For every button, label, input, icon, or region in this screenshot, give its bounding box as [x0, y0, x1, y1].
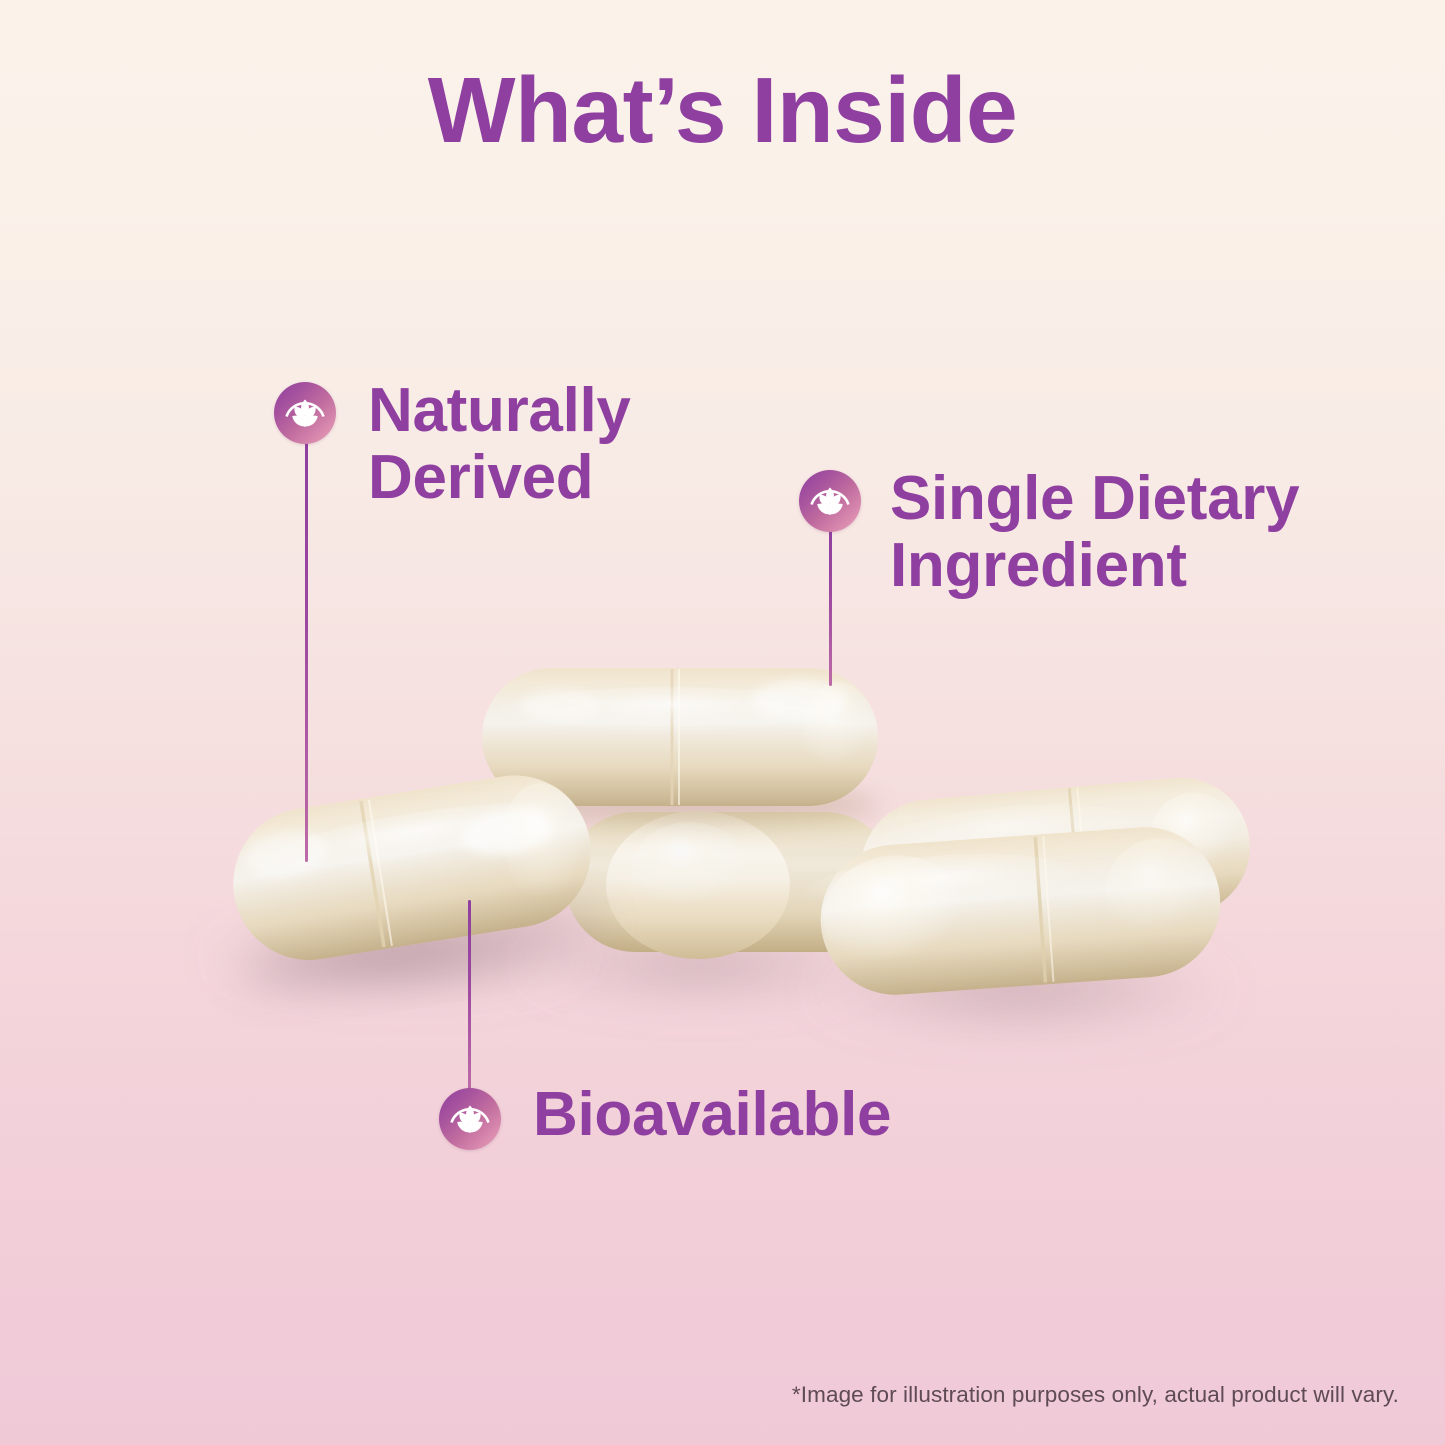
lotus-flower-icon	[439, 1088, 501, 1150]
callout-label-single-dietary-ingredient: Single Dietary Ingredient	[890, 466, 1445, 600]
callout-label-line-2: Derived	[368, 445, 828, 512]
callout-label-bioavailable: Bioavailable	[533, 1082, 1053, 1149]
callout-label-naturally-derived: Naturally Derived	[368, 378, 828, 512]
lotus-flower-icon	[274, 382, 336, 444]
page-title: What’s Inside	[0, 62, 1445, 160]
connector-line-single-dietary-ingredient	[829, 526, 832, 686]
disclaimer-footnote: *Image for illustration purposes only, a…	[792, 1382, 1399, 1408]
lotus-flower-icon	[799, 470, 861, 532]
callout-label-line-1: Single Dietary	[890, 466, 1445, 533]
whats-inside-panel: What’s Inside	[0, 0, 1445, 1445]
callout-label-line-1: Bioavailable	[533, 1082, 1053, 1149]
capsules-photo	[0, 0, 1445, 1445]
connector-line-bioavailable	[468, 900, 471, 1092]
callout-label-line-1: Naturally	[368, 378, 828, 445]
callout-label-line-2: Ingredient	[890, 533, 1445, 600]
connector-line-naturally-derived	[305, 438, 308, 862]
